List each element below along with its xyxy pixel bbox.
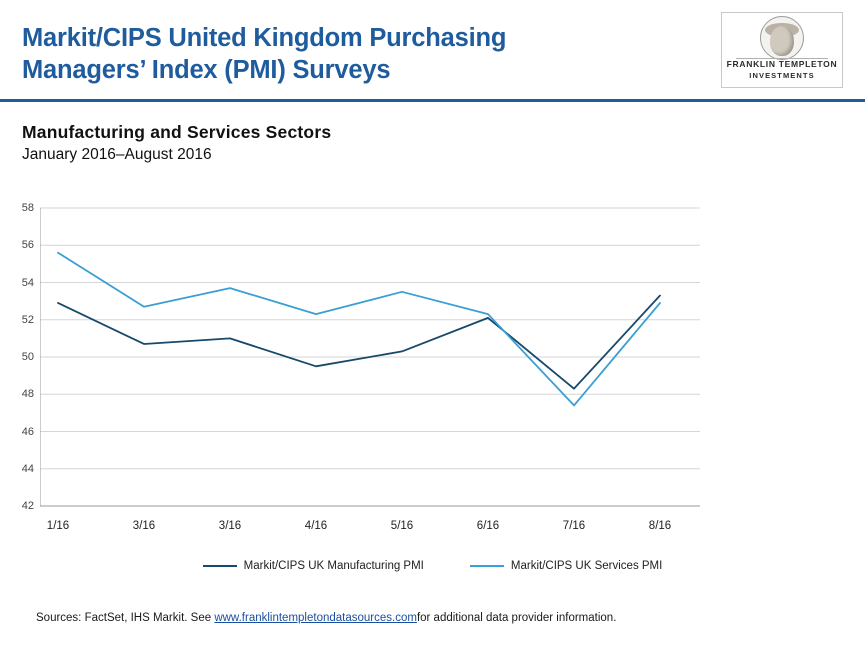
source-prefix: Sources: FactSet, IHS Markit. See [36,612,214,624]
logo-line-2: INVESTMENTS [722,70,842,81]
x-axis-tick-label: 7/16 [563,520,585,532]
legend-color-swatch [203,565,237,567]
x-axis-tick-label: 8/16 [649,520,671,532]
chart-legend: Markit/CIPS UK Manufacturing PMIMarkit/C… [0,560,865,572]
x-axis-tick-label: 4/16 [305,520,327,532]
y-axis-tick-label: 48 [4,388,34,400]
legend-color-swatch [470,565,504,567]
y-axis-tick-label: 50 [4,351,34,363]
source-suffix: for additional data provider information… [417,612,616,624]
x-axis-tick-label: 5/16 [391,520,413,532]
y-axis-tick-label: 42 [4,500,34,512]
chart-subtitle: January 2016–August 2016 [22,146,212,164]
chart-title: Manufacturing and Services Sectors [22,122,331,143]
y-axis-tick-label: 56 [4,239,34,251]
chart-plot-area: 424446485052545658 1/163/163/164/165/166… [40,196,730,526]
page-title: Markit/CIPS United Kingdom Purchasing Ma… [22,22,642,86]
y-axis-tick-label: 46 [4,426,34,438]
x-axis-tick-label: 3/16 [219,520,241,532]
x-axis-tick-label: 3/16 [133,520,155,532]
legend-item: Markit/CIPS UK Services PMI [470,560,662,572]
legend-item: Markit/CIPS UK Manufacturing PMI [203,560,424,572]
legend-label: Markit/CIPS UK Services PMI [511,560,662,572]
legend-label: Markit/CIPS UK Manufacturing PMI [244,560,424,572]
line-chart-canvas [40,196,730,516]
x-axis-tick-label: 6/16 [477,520,499,532]
logo-line-1: FRANKLIN TEMPLETON [722,59,842,70]
source-link[interactable]: www.franklintempletondatasources.com [214,612,417,624]
y-axis-tick-label: 52 [4,314,34,326]
page-header: Markit/CIPS United Kingdom Purchasing Ma… [0,0,865,100]
x-axis-tick-label: 1/16 [47,520,69,532]
franklin-templeton-logo: FRANKLIN TEMPLETON INVESTMENTS [721,12,843,88]
logo-text: FRANKLIN TEMPLETON INVESTMENTS [722,59,842,81]
benjamin-franklin-coin-icon [760,16,804,60]
header-divider [0,99,865,102]
source-note: Sources: FactSet, IHS Markit. See www.fr… [36,612,836,624]
y-axis-tick-label: 44 [4,463,34,475]
y-axis-tick-label: 54 [4,277,34,289]
y-axis-tick-label: 58 [4,202,34,214]
